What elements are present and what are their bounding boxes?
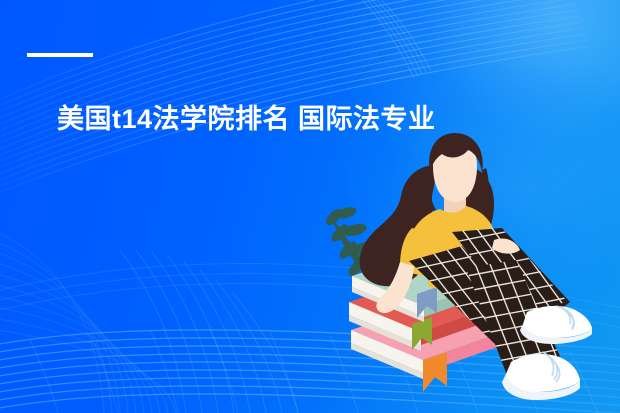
title-divider — [27, 53, 93, 57]
page-title: 美国t14法学院排名 国际法专业 — [57, 103, 436, 137]
banner: 美国t14法学院排名 国际法专业 — [0, 0, 620, 413]
shoe-back — [520, 306, 592, 344]
illustration-woman-on-books — [0, 0, 620, 413]
